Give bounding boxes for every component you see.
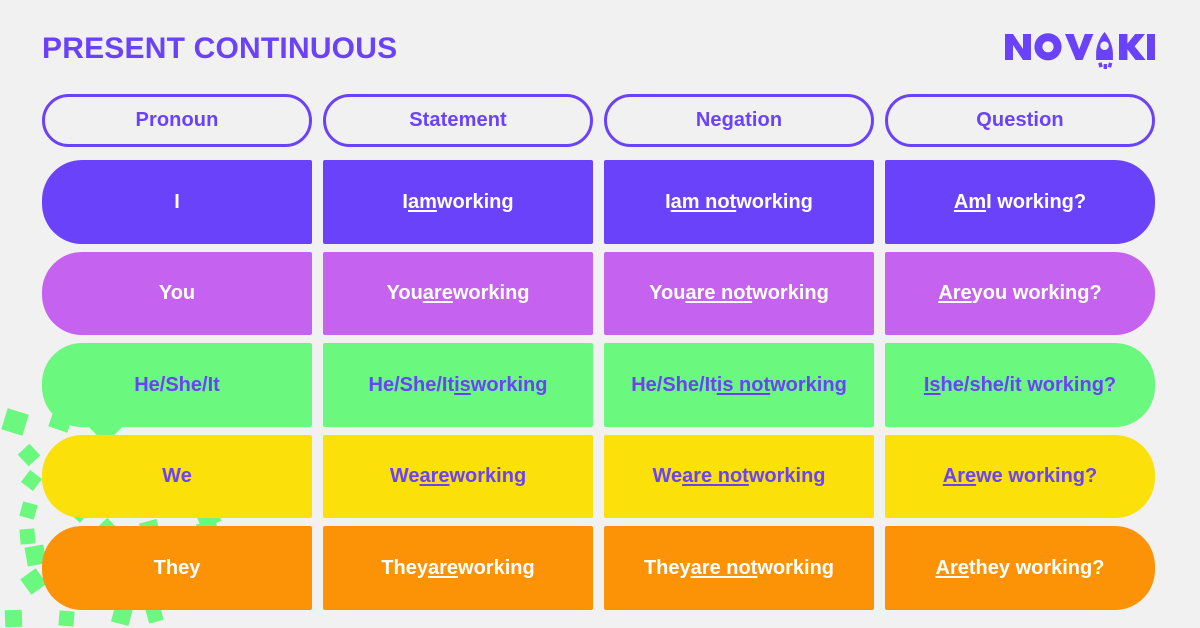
cell-pronoun: You [42, 252, 312, 336]
novakid-logo-icon [1003, 26, 1155, 72]
column-header-question-label: Question [976, 109, 1063, 132]
table-row: WeWe are workingWe are not workingAre we… [42, 435, 1155, 519]
table-row: YouYou are workingYou are not workingAre… [42, 252, 1155, 336]
cell-question: Are you working? [885, 252, 1155, 336]
infographic-page: PRESENT CONTINUOUS [0, 0, 1200, 628]
cell-negation: They are not working [604, 526, 874, 610]
cell-negation: I am not working [604, 160, 874, 244]
table-row: II am workingI am not workingAm I workin… [42, 160, 1155, 244]
cell-statement: We are working [323, 435, 593, 519]
cell-statement: I am working [323, 160, 593, 244]
cell-negation: You are not working [604, 252, 874, 336]
cell-pronoun: We [42, 435, 312, 519]
table-row: TheyThey are workingThey are not working… [42, 526, 1155, 610]
cell-question: Is he/she/it working? [885, 343, 1155, 427]
novakid-logo [1003, 27, 1155, 71]
column-header-statement: Statement [323, 94, 593, 147]
column-header-question: Question [885, 94, 1155, 147]
cell-statement: You are working [323, 252, 593, 336]
header-bar: PRESENT CONTINUOUS [42, 26, 1155, 72]
cell-statement: They are working [323, 526, 593, 610]
cell-pronoun: He/She/It [42, 343, 312, 427]
column-header-statement-label: Statement [409, 109, 507, 132]
column-header-pronoun: Pronoun [42, 94, 312, 147]
cell-question: Are they working? [885, 526, 1155, 610]
column-header-pronoun-label: Pronoun [136, 109, 219, 132]
table-header-row: Pronoun Statement Negation Question [42, 94, 1155, 147]
column-header-negation: Negation [604, 94, 874, 147]
cell-pronoun: They [42, 526, 312, 610]
cell-statement: He/She/It is working [323, 343, 593, 427]
page-title: PRESENT CONTINUOUS [42, 32, 397, 66]
cell-question: Are we working? [885, 435, 1155, 519]
conjugation-table-body: II am workingI am not workingAm I workin… [42, 160, 1155, 610]
cell-negation: We are not working [604, 435, 874, 519]
column-header-negation-label: Negation [696, 109, 782, 132]
cell-pronoun: I [42, 160, 312, 244]
cell-question: Am I working? [885, 160, 1155, 244]
table-row: He/She/ItHe/She/It is workingHe/She/It i… [42, 343, 1155, 427]
cell-negation: He/She/It is not working [604, 343, 874, 427]
